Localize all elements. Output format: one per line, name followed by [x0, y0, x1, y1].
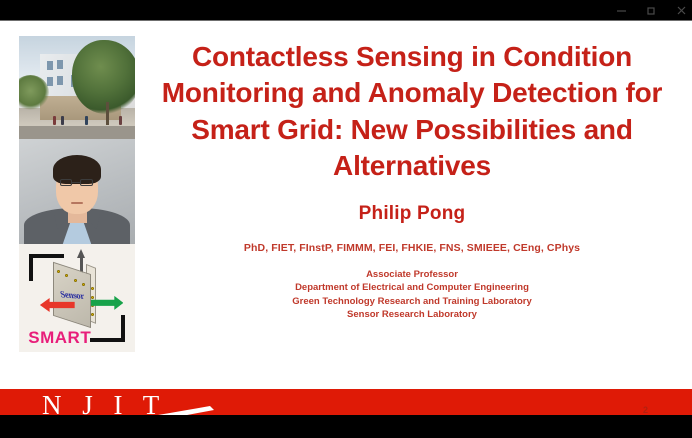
portrait-glasses-right — [80, 179, 93, 186]
portrait-glasses-left — [60, 179, 73, 186]
photo-pedestrian — [61, 116, 64, 125]
author-name: Philip Pong — [148, 203, 676, 225]
photo-window — [57, 60, 63, 69]
logo-chip-pin — [82, 283, 85, 286]
speaker-portrait-photo — [19, 139, 135, 244]
portrait-glasses-bridge — [72, 182, 80, 183]
smart-lab-logo: Sensor SMART — [19, 244, 135, 352]
photo-tree-large — [72, 40, 135, 114]
affiliation-line: Sensor Research Laboratory — [148, 308, 676, 321]
slide-text-content: Contactless Sensing in Condition Monitor… — [148, 39, 676, 322]
smart-wordmark: SMART — [28, 328, 91, 348]
photo-pedestrian — [85, 116, 88, 125]
slide-canvas: Sensor SMART Contactless Sensing in Cond… — [0, 21, 692, 415]
affiliation-line: Associate Professor — [148, 268, 676, 281]
photo-road — [19, 126, 135, 139]
window-titlebar — [0, 0, 692, 21]
minimize-icon[interactable] — [614, 4, 628, 18]
logo-chip-pin — [91, 313, 94, 316]
njit-logo: N J I T New Jersey Institute of Technolo… — [42, 392, 252, 415]
slide-footer: N J I T New Jersey Institute of Technolo… — [0, 389, 692, 415]
author-affiliation: Associate Professor Department of Electr… — [148, 268, 676, 322]
portrait-mouth — [71, 202, 83, 204]
affiliation-line: Green Technology Research and Training L… — [148, 295, 676, 308]
author-credentials: PhD, FIET, FInstP, FIMMM, FEI, FHKIE, FN… — [148, 242, 676, 254]
njit-wordmark: N J I T — [42, 392, 166, 415]
campus-building-photo — [19, 36, 135, 139]
photo-tree-trunk — [106, 102, 109, 125]
slide-number: 2 — [643, 405, 648, 415]
restore-icon[interactable] — [644, 4, 658, 18]
logo-chip-label: Sensor — [59, 289, 85, 301]
up-arrow-icon — [77, 249, 85, 258]
photo-pedestrian — [119, 116, 122, 125]
photo-window — [47, 61, 53, 70]
window-controls — [614, 0, 688, 21]
presentation-window: Sensor SMART Contactless Sensing in Cond… — [0, 0, 692, 438]
slide-title: Contactless Sensing in Condition Monitor… — [148, 39, 676, 185]
logo-chip-pin — [91, 296, 94, 299]
window-bottom-bar — [0, 415, 692, 438]
affiliation-line: Department of Electrical and Computer En… — [148, 281, 676, 294]
photo-pedestrian — [53, 116, 56, 125]
photo-window — [57, 76, 63, 85]
logo-chip-pin — [74, 279, 77, 282]
close-icon[interactable] — [674, 4, 688, 18]
slide-image-column: Sensor SMART — [19, 36, 135, 352]
